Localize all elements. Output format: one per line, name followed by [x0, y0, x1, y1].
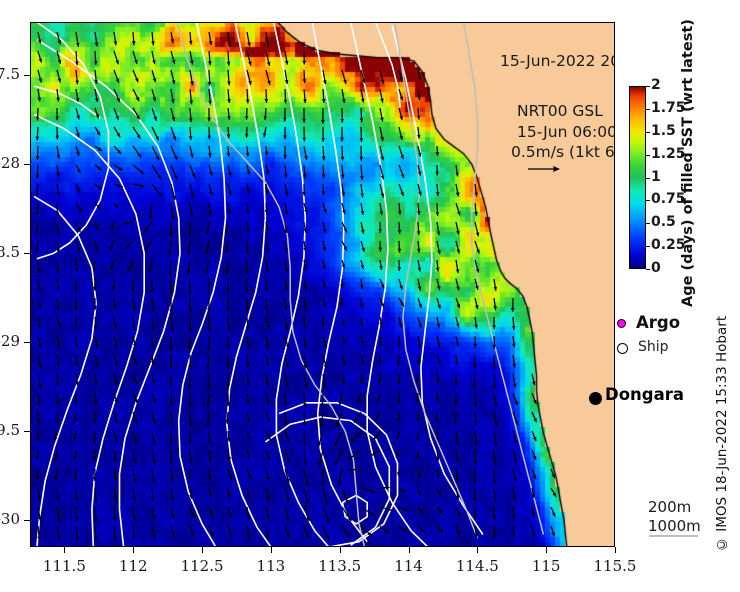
- current-vector-head: [188, 404, 192, 408]
- current-vector-head: [226, 384, 230, 388]
- current-scale-label: 0.5m/s (1kt 6h): [511, 143, 615, 161]
- current-vector-head: [340, 119, 344, 123]
- current-vector-head: [302, 119, 306, 123]
- current-vector-head: [188, 291, 192, 295]
- current-vector-head: [343, 362, 347, 366]
- legend-label-argo: Argo: [636, 313, 680, 332]
- current-vector-head: [154, 117, 157, 121]
- current-vector-head: [225, 271, 229, 275]
- current-vector-head: [75, 362, 79, 366]
- x-tick: [546, 547, 547, 553]
- current-vector-head: [36, 156, 40, 160]
- current-vector-head: [93, 287, 97, 291]
- current-vector-head: [265, 151, 269, 155]
- current-vector-head: [436, 268, 440, 272]
- figure-root: 15-Jun-2022 20Z NRT00 GSL 15-Jun 06:00Z …: [0, 0, 740, 592]
- current-scale-arrow-icon: [527, 163, 561, 175]
- current-vector-head: [398, 211, 402, 215]
- current-vector-head: [132, 41, 136, 45]
- current-vector-head: [303, 175, 307, 179]
- current-vector-head: [169, 347, 173, 351]
- current-vector-head: [227, 62, 231, 66]
- current-vector-head: [227, 81, 231, 85]
- current-vector-head: [417, 231, 421, 235]
- current-vector-head: [169, 460, 173, 464]
- current-vector-head: [265, 210, 269, 214]
- current-vector-head: [303, 422, 307, 426]
- current-vector-head: [151, 498, 155, 502]
- current-vector-head: [74, 307, 78, 311]
- current-vector-head: [435, 171, 439, 175]
- current-vector-head: [36, 175, 40, 179]
- current-vector-head: [188, 385, 192, 389]
- current-vector-head: [189, 422, 193, 426]
- colorbar-title: Age (days) of filled SST (wrt latest): [676, 18, 700, 308]
- current-vector-head: [93, 419, 97, 423]
- current-vector-head: [397, 344, 401, 348]
- current-vector-head: [473, 344, 477, 348]
- current-vector-head: [360, 138, 364, 142]
- current-vector-head: [93, 477, 97, 481]
- current-vector-head: [134, 419, 138, 423]
- current-vector-head: [189, 309, 193, 313]
- current-vector-head: [76, 152, 80, 156]
- current-vector-head: [323, 209, 327, 213]
- current-vector-head: [303, 403, 307, 407]
- colorbar-tick: [646, 223, 650, 224]
- current-vector-head: [283, 155, 287, 159]
- current-vector-head: [132, 535, 136, 539]
- current-vector-head: [265, 288, 269, 292]
- current-vector-head: [115, 362, 119, 366]
- current-vector-head: [493, 535, 497, 539]
- y-tick: [24, 253, 30, 254]
- current-vector-head: [188, 232, 192, 236]
- current-vector-head: [418, 304, 422, 308]
- current-vector-head: [321, 138, 325, 142]
- current-vector-head: [286, 438, 289, 442]
- current-vector-head: [110, 266, 113, 270]
- colorbar-tick: [646, 155, 650, 156]
- current-vector-head: [207, 308, 211, 312]
- current-vector-head: [473, 365, 477, 369]
- current-vector-head: [94, 401, 98, 405]
- x-tick-label: 114: [374, 557, 444, 575]
- current-vector-head: [511, 308, 515, 312]
- city-marker-dongara-icon: [589, 392, 602, 405]
- current-vector-head: [401, 174, 404, 178]
- current-vector-head: [436, 212, 440, 216]
- current-vector-head: [246, 363, 250, 367]
- current-vector-head: [94, 537, 98, 541]
- current-vector-head: [56, 420, 60, 424]
- current-vector-head: [473, 498, 477, 502]
- current-vector-head: [286, 533, 289, 537]
- current-vector-head: [417, 116, 421, 120]
- current-vector-head: [360, 176, 364, 180]
- current-vector-head: [75, 62, 79, 66]
- y-tick-label: -30: [0, 510, 20, 528]
- x-tick-label: 112: [98, 557, 168, 575]
- x-tick: [340, 547, 341, 553]
- current-vector-head: [245, 134, 249, 138]
- colorbar-tick: [646, 132, 650, 133]
- current-vector-head: [493, 516, 497, 520]
- current-vector-head: [226, 420, 230, 424]
- bathymetry-label-200m: 200m: [648, 498, 691, 516]
- current-vector-head: [265, 99, 269, 103]
- current-vector-head: [226, 365, 230, 369]
- current-vector-head: [150, 289, 154, 293]
- current-vector-head: [416, 400, 420, 404]
- current-vector-head: [74, 401, 78, 405]
- colorbar-tick: [646, 246, 650, 247]
- current-vector-head: [36, 117, 40, 121]
- current-vector-head: [189, 328, 193, 332]
- current-vector-head: [206, 366, 210, 370]
- current-vector-head: [493, 480, 497, 484]
- y-tick: [24, 520, 30, 521]
- current-vector-head: [173, 136, 177, 140]
- current-vector-head: [169, 309, 173, 313]
- y-tick: [24, 75, 30, 76]
- current-vector-head: [416, 437, 420, 441]
- current-vector-head: [56, 212, 60, 216]
- current-vector-head: [227, 99, 231, 103]
- current-vector-head: [169, 233, 173, 237]
- current-vector-head: [302, 61, 306, 65]
- current-vector-head: [189, 366, 193, 370]
- current-vector-head: [359, 157, 363, 161]
- colorbar-tick-label: 1.5: [651, 123, 676, 139]
- current-vector-head: [207, 328, 211, 332]
- current-vector-head: [74, 325, 78, 329]
- current-vector-head: [454, 421, 458, 425]
- current-vector-head: [94, 518, 98, 522]
- current-vector-head: [457, 211, 460, 215]
- current-vector-head: [189, 136, 193, 140]
- current-vector-head: [226, 308, 230, 312]
- x-tick-label: 111.5: [29, 557, 99, 575]
- current-vector-head: [208, 82, 212, 86]
- current-source-line2: 15-Jun 06:00Z: [517, 123, 615, 141]
- current-vector-head: [303, 138, 307, 142]
- current-vector-head: [396, 454, 399, 458]
- x-tick-label: 114.5: [442, 557, 512, 575]
- current-vector-head: [473, 515, 477, 519]
- current-vector-head: [267, 456, 271, 460]
- current-vector-head: [112, 287, 116, 291]
- x-tick: [477, 547, 478, 553]
- current-vector-head: [113, 517, 117, 521]
- current-vector-head: [284, 100, 288, 104]
- current-vector-head: [302, 192, 306, 196]
- current-vector-head: [321, 403, 325, 407]
- current-vector-head: [397, 472, 401, 476]
- current-vector-head: [360, 304, 364, 308]
- credit-text: © IMOS 18-Jun-2022 15:33 Hobart: [714, 318, 734, 550]
- current-vector-head: [93, 457, 97, 461]
- colorbar-tick: [646, 109, 650, 110]
- current-vector-head: [341, 157, 345, 161]
- current-vector-head: [94, 498, 98, 502]
- current-vector-head: [474, 460, 478, 464]
- current-vector-head: [436, 192, 440, 196]
- current-vector-head: [492, 345, 496, 349]
- current-vector-head: [397, 400, 401, 404]
- current-vector-head: [245, 116, 249, 120]
- current-vector-head: [94, 326, 98, 330]
- current-vector-head: [191, 532, 194, 536]
- x-tick-label: 115: [511, 557, 581, 575]
- current-vector-head: [188, 477, 192, 481]
- current-vector-head: [227, 153, 231, 157]
- bathymetry-label-1000m: 1000m: [648, 517, 701, 535]
- current-vector-head: [456, 531, 460, 535]
- current-vector-head: [56, 383, 60, 387]
- current-vector-head: [340, 303, 344, 307]
- current-vector-head: [322, 156, 326, 160]
- current-vector-head: [208, 212, 212, 216]
- y-tick-label: -28.5: [0, 243, 20, 261]
- current-vector-head: [283, 135, 287, 139]
- current-vector-head: [474, 421, 478, 425]
- current-vector-head: [349, 468, 353, 472]
- current-vector-head: [75, 268, 79, 272]
- current-vector-head: [416, 455, 420, 459]
- current-vector-head: [227, 345, 231, 349]
- current-vector-head: [96, 114, 100, 118]
- y-tick-label: -29.5: [0, 421, 20, 439]
- current-vector-head: [188, 440, 192, 444]
- current-vector-head: [283, 118, 287, 122]
- date-annotation: 15-Jun-2022 20Z: [500, 52, 615, 70]
- colorbar[interactable]: [629, 86, 646, 269]
- x-tick: [271, 547, 272, 553]
- current-vector-head: [229, 475, 233, 479]
- current-vector-head: [246, 250, 250, 254]
- current-vector-head: [134, 60, 138, 64]
- colorbar-tick: [646, 269, 650, 270]
- current-vector-head: [208, 440, 212, 444]
- current-vector-head: [246, 100, 250, 104]
- current-vector-head: [400, 96, 404, 100]
- colorbar-tick-label: 0: [651, 260, 661, 276]
- colorbar-tick: [646, 86, 650, 87]
- current-vector-head: [476, 249, 479, 253]
- current-vector-head: [416, 418, 420, 422]
- current-vector-head: [437, 361, 441, 365]
- current-vector-head: [207, 118, 211, 122]
- x-tick-label: 112.5: [167, 557, 237, 575]
- current-vector-head: [169, 440, 173, 444]
- current-vector-head: [341, 175, 345, 179]
- x-tick-label: 113.5: [305, 557, 375, 575]
- current-vector-head: [229, 533, 232, 537]
- current-vector-head: [227, 327, 231, 331]
- current-vector-head: [378, 361, 382, 365]
- colorbar-tick: [646, 178, 650, 179]
- current-vector-head: [245, 270, 249, 274]
- y-tick: [24, 431, 30, 432]
- colorbar-tick-label: 2: [651, 77, 661, 93]
- current-vector-head: [56, 496, 60, 500]
- current-vector-head: [227, 134, 231, 138]
- current-vector-head: [416, 379, 420, 383]
- current-vector-head: [36, 136, 40, 140]
- x-tick-label: 113: [236, 557, 306, 575]
- current-vector-head: [93, 438, 97, 442]
- x-tick-label: 115.5: [580, 557, 650, 575]
- current-vector-head: [473, 479, 477, 483]
- current-vector-head: [115, 60, 119, 64]
- current-vector-head: [208, 458, 212, 462]
- argo-marker-icon: [617, 319, 626, 328]
- y-tick-label: -29: [0, 332, 20, 350]
- current-vector-head: [303, 99, 307, 103]
- x-tick: [409, 547, 410, 553]
- current-vector-head: [284, 420, 288, 424]
- x-tick: [64, 547, 65, 553]
- current-vector-head: [37, 420, 41, 424]
- current-vector-head: [208, 101, 212, 105]
- current-vector-head: [58, 324, 61, 328]
- legend-label-ship: Ship: [638, 339, 669, 355]
- current-vector-head: [436, 152, 440, 156]
- current-vector-head: [113, 536, 117, 540]
- current-vector-head: [321, 482, 325, 486]
- current-vector-head: [322, 174, 326, 178]
- current-vector-head: [55, 136, 59, 140]
- current-vector-head: [169, 402, 173, 406]
- current-vector-head: [74, 287, 78, 291]
- y-tick: [24, 342, 30, 343]
- current-vector-head: [400, 192, 403, 196]
- current-vector-head: [93, 306, 97, 310]
- current-vector-head: [398, 230, 402, 234]
- current-vector-head: [207, 385, 211, 389]
- current-vector-head: [229, 514, 233, 518]
- current-source-line1: NRT00 GSL: [517, 102, 603, 120]
- current-vector-head: [360, 380, 364, 384]
- current-vector-head: [36, 437, 40, 441]
- current-vector-head: [360, 323, 364, 327]
- current-vector-head: [398, 249, 402, 253]
- current-vector-head: [303, 442, 307, 446]
- current-vector-head: [512, 326, 516, 330]
- current-vector-head: [457, 304, 461, 308]
- current-vector-head: [206, 403, 210, 407]
- current-vector-head: [512, 533, 516, 537]
- current-vector-head: [360, 118, 364, 122]
- current-vector-head: [56, 401, 60, 405]
- current-vector-head: [189, 118, 193, 122]
- current-vector-head: [151, 308, 155, 312]
- current-vector-head: [227, 402, 231, 406]
- current-vector-head: [169, 383, 173, 387]
- current-vector-head: [245, 289, 249, 293]
- colorbar-tick-label: 0.5: [651, 214, 676, 230]
- colorbar-tick-label: 1: [651, 169, 661, 185]
- current-vector-head: [56, 269, 60, 273]
- current-vector-head: [265, 307, 269, 311]
- current-vector-head: [207, 290, 211, 294]
- colorbar-gradient: [629, 86, 646, 269]
- current-vector-head: [169, 364, 173, 368]
- colorbar-tick: [646, 200, 650, 201]
- current-vector-head: [119, 184, 123, 187]
- current-vector-head: [378, 229, 382, 233]
- x-tick: [202, 547, 203, 553]
- current-vector-head: [357, 400, 360, 404]
- current-vector-head: [552, 532, 556, 536]
- current-vector-head: [189, 41, 193, 45]
- current-vector-head: [397, 362, 401, 366]
- current-vector-head: [36, 211, 40, 215]
- current-vector-head: [208, 61, 212, 65]
- current-vector-head: [306, 517, 309, 521]
- current-vector-head: [340, 138, 344, 142]
- x-tick: [133, 547, 134, 553]
- y-tick-label: -27.5: [0, 65, 20, 83]
- current-vector-head: [361, 248, 365, 252]
- current-vector-head: [454, 382, 458, 386]
- current-vector-head: [207, 347, 211, 351]
- current-vector-overlay: [30, 22, 615, 547]
- current-vector-head: [55, 116, 59, 120]
- current-vector-head: [169, 291, 173, 295]
- current-vector-head: [321, 120, 325, 124]
- current-vector-head: [512, 515, 516, 519]
- bathymetry-legend-line: [649, 535, 698, 537]
- ship-marker-icon: [617, 343, 628, 354]
- current-vector-head: [322, 99, 326, 103]
- current-vector-head: [188, 347, 192, 351]
- current-vector-head: [378, 248, 382, 252]
- city-label-dongara: Dongara: [605, 385, 684, 404]
- current-vector-head: [401, 155, 404, 159]
- current-vector-head: [74, 477, 78, 481]
- x-tick: [615, 547, 616, 553]
- current-vector-head: [303, 324, 307, 328]
- current-vector-head: [474, 403, 478, 407]
- current-vector-head: [493, 385, 497, 389]
- current-vector-head: [397, 418, 401, 422]
- current-vector-head: [386, 486, 390, 490]
- current-vector-head: [189, 100, 193, 104]
- map-plot-area[interactable]: 15-Jun-2022 20Z NRT00 GSL 15-Jun 06:00Z …: [30, 22, 615, 547]
- current-vector-head: [36, 476, 40, 480]
- current-vector-head: [454, 401, 458, 405]
- current-vector-head: [306, 535, 309, 539]
- current-vector-head: [417, 211, 421, 215]
- current-vector-head: [492, 325, 496, 329]
- current-vector-head: [246, 327, 250, 331]
- current-vector-head: [303, 79, 307, 83]
- current-vector-head: [397, 267, 401, 271]
- current-vector-head: [131, 288, 135, 292]
- current-vector-head: [168, 272, 172, 276]
- current-vector-head: [435, 418, 439, 422]
- current-vector-head: [246, 307, 250, 311]
- current-vector-head: [321, 323, 325, 327]
- current-vector-head: [189, 459, 193, 463]
- current-vector-head: [492, 366, 496, 370]
- current-vector-head: [75, 497, 79, 501]
- current-vector-head: [324, 343, 328, 347]
- current-vector-head: [417, 135, 421, 139]
- current-vector-head: [340, 285, 344, 289]
